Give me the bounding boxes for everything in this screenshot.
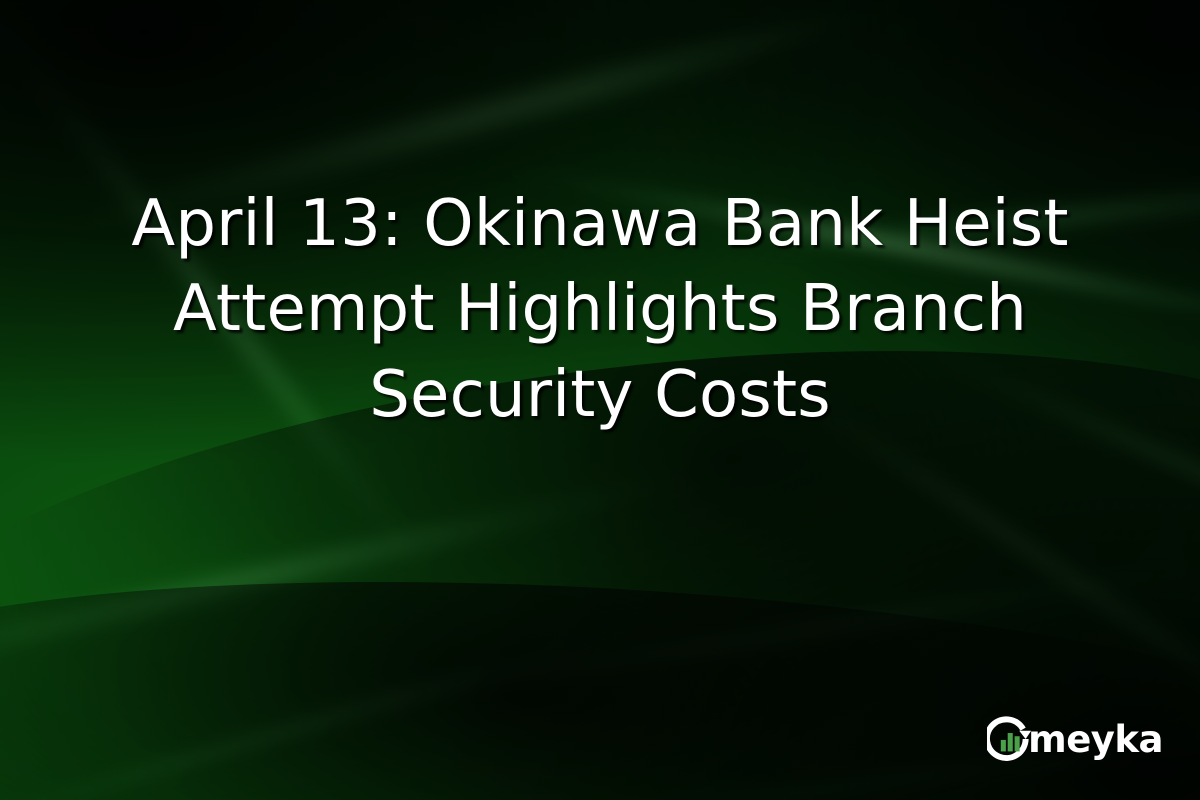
cover-canvas: April 13: Okinawa Bank Heist Attempt Hig…	[0, 0, 1200, 800]
title-block: April 13: Okinawa Bank Heist Attempt Hig…	[0, 0, 1200, 620]
page-title: April 13: Okinawa Bank Heist Attempt Hig…	[60, 182, 1140, 437]
brand-logo: meyka	[987, 716, 1174, 762]
circular-arrow-bar-chart-logo-icon	[987, 716, 1033, 762]
brand-wordmark: meyka	[1028, 721, 1163, 758]
